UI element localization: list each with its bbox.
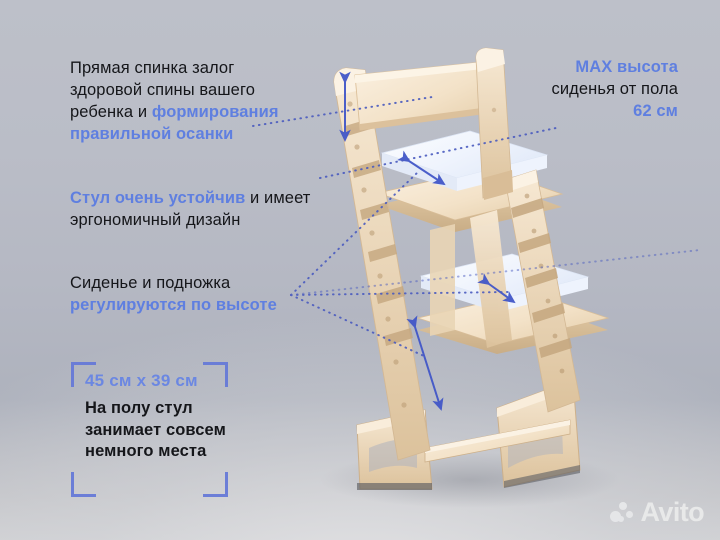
backrest-line2: здоровой спины вашего: [70, 81, 255, 99]
stability-line2: эргономичный дизайн: [70, 211, 240, 229]
avito-dots-icon: [610, 502, 634, 524]
backrest-line3-plain: ребенка и: [70, 103, 152, 121]
adjustable-highlight: регулируются по высоте: [70, 296, 277, 314]
callout-footprint: 45 см x 39 см На полу стул занимает совс…: [85, 370, 265, 463]
max-height-title: MAX высота: [575, 58, 678, 76]
backrest-line1: Прямая спинка залог: [70, 59, 234, 77]
adjustable-line1: Сиденье и подножка: [70, 274, 230, 292]
max-height-subtitle: сиденья от пола: [551, 80, 678, 98]
backrest-line4-highlight: правильной осанки: [70, 125, 233, 143]
stability-line1-plain: и имеет: [245, 189, 310, 207]
infographic-canvas: Прямая спинка залог здоровой спины вашег…: [0, 0, 720, 540]
callout-max-height: MAX высота сиденья от пола 62 см: [458, 57, 678, 123]
footprint-dimensions: 45 см x 39 см: [85, 370, 265, 393]
footprint-line2: занимает совсем: [85, 420, 265, 442]
avito-logo: Avito: [610, 499, 705, 526]
footprint-line1: На полу стул: [85, 398, 265, 420]
bracket-bottom-right-icon: [203, 472, 228, 497]
callout-stability: Стул очень устойчив и имеет эргономичный…: [70, 188, 335, 232]
footprint-line3: немного места: [85, 441, 265, 463]
callout-backrest: Прямая спинка залог здоровой спины вашег…: [70, 58, 320, 146]
avito-wordmark: Avito: [641, 499, 705, 526]
stability-highlight: Стул очень устойчив: [70, 189, 245, 207]
bracket-bottom-left-icon: [71, 472, 96, 497]
max-height-value: 62 см: [633, 102, 678, 120]
callout-adjustable: Сиденье и подножка регулируются по высот…: [70, 273, 320, 317]
backrest-line3-highlight: формирования: [152, 103, 279, 121]
